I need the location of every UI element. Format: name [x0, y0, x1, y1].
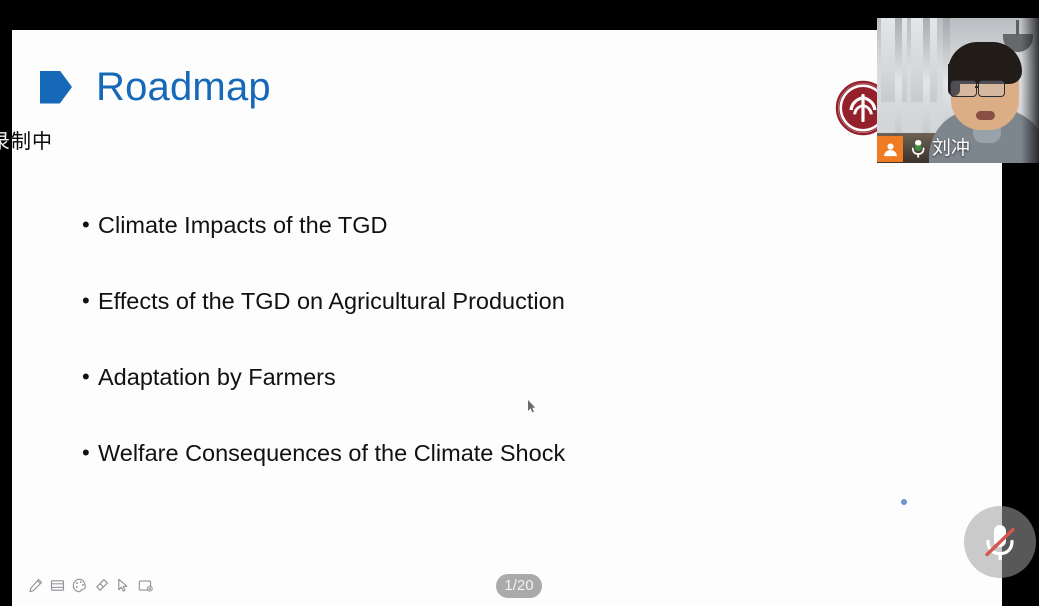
recording-status-label: 录制中: [0, 128, 53, 156]
video-vignette: [1021, 18, 1039, 163]
list-item-label: Climate Impacts of the TGD: [98, 208, 388, 242]
participant-video-tile[interactable]: 刘冲: [877, 18, 1039, 163]
list-item-label: Effects of the TGD on Agricultural Produ…: [98, 284, 565, 318]
clear-all-icon[interactable]: [138, 578, 153, 593]
video-person-glasses-right: [978, 80, 1005, 97]
microphone-icon: [909, 138, 927, 160]
bullet-marker: •: [82, 436, 98, 470]
bullet-marker: •: [82, 360, 98, 394]
note-frame-icon[interactable]: [50, 578, 65, 593]
slide-bullet-list: • Climate Impacts of the TGD • Effects o…: [82, 208, 902, 512]
pointer-cursor-icon[interactable]: [116, 578, 131, 593]
list-item: • Adaptation by Farmers: [82, 360, 902, 436]
mute-toggle-button[interactable]: [964, 506, 1036, 578]
video-person-glasses-left: [950, 80, 977, 97]
bullet-marker: •: [82, 284, 98, 318]
annotation-toolbar[interactable]: [28, 578, 153, 593]
participant-name: 刘冲: [932, 138, 970, 160]
person-icon: [877, 136, 903, 162]
video-person-mouth: [976, 111, 995, 120]
presentation-slide: Roadmap • Climate Impacts of th: [12, 30, 1002, 606]
page-title: Roadmap: [96, 67, 271, 107]
annotation-dot: [901, 499, 907, 505]
microphone-muted-icon: [980, 519, 1020, 565]
color-palette-icon[interactable]: [72, 578, 87, 593]
participant-name-bar: 刘冲: [877, 135, 970, 163]
list-item-label: Adaptation by Farmers: [98, 360, 336, 394]
arrow-right-marker-icon: [40, 71, 72, 104]
video-person-glasses-bridge: [975, 86, 979, 88]
video-person-hair: [948, 42, 1022, 84]
list-item: • Climate Impacts of the TGD: [82, 208, 902, 284]
list-item-label: Welfare Consequences of the Climate Shoc…: [98, 436, 565, 470]
screen-root: Roadmap • Climate Impacts of th: [0, 0, 1039, 606]
bullet-marker: •: [82, 208, 98, 242]
video-window-light: [881, 18, 907, 102]
page-indicator: 1/20: [496, 574, 542, 598]
pen-icon[interactable]: [28, 578, 43, 593]
eraser-icon[interactable]: [94, 578, 109, 593]
pointer-cursor-icon: [527, 400, 536, 413]
slide-title-row: Roadmap: [40, 67, 271, 107]
list-item: • Welfare Consequences of the Climate Sh…: [82, 436, 902, 512]
list-item: • Effects of the TGD on Agricultural Pro…: [82, 284, 902, 360]
